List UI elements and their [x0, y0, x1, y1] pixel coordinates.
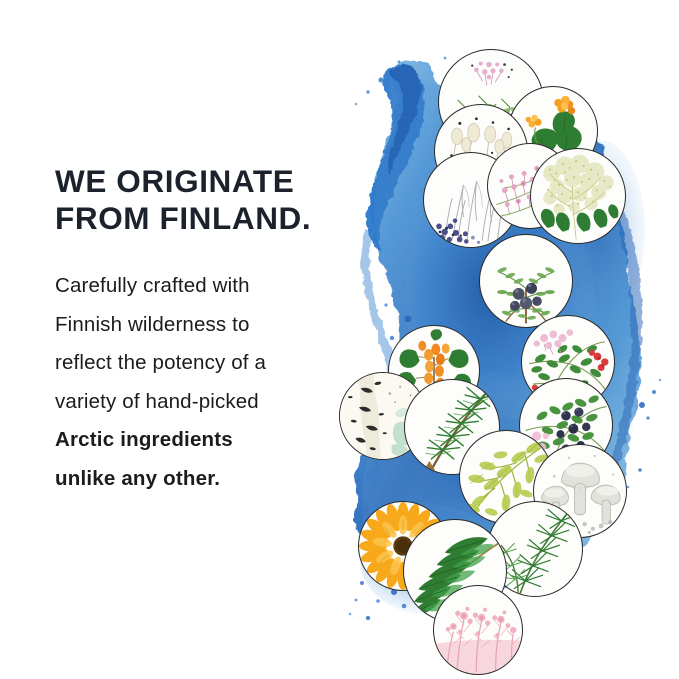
body-line-0: Carefully crafted with: [55, 267, 355, 306]
body-line-1: Finnish wilderness to: [55, 306, 355, 345]
copy-block: WE ORIGINATE FROM FINLAND. Carefully cra…: [55, 163, 355, 498]
body-line-2: reflect the potency of a: [55, 344, 355, 383]
vignette-meadowsweet: [530, 148, 626, 244]
poster-canvas: WE ORIGINATE FROM FINLAND. Carefully cra…: [0, 0, 679, 679]
body-line-3: variety of hand-picked: [55, 383, 355, 422]
page-title: WE ORIGINATE FROM FINLAND.: [55, 163, 355, 237]
body-paragraph: Carefully crafted withFinnish wilderness…: [55, 237, 355, 498]
body-line-5: unlike any other.: [55, 460, 355, 499]
body-line-4: Arctic ingredients: [55, 421, 355, 460]
vignette-juniper-berries: [479, 234, 573, 328]
vignette-pink-fireweed: [433, 585, 523, 675]
